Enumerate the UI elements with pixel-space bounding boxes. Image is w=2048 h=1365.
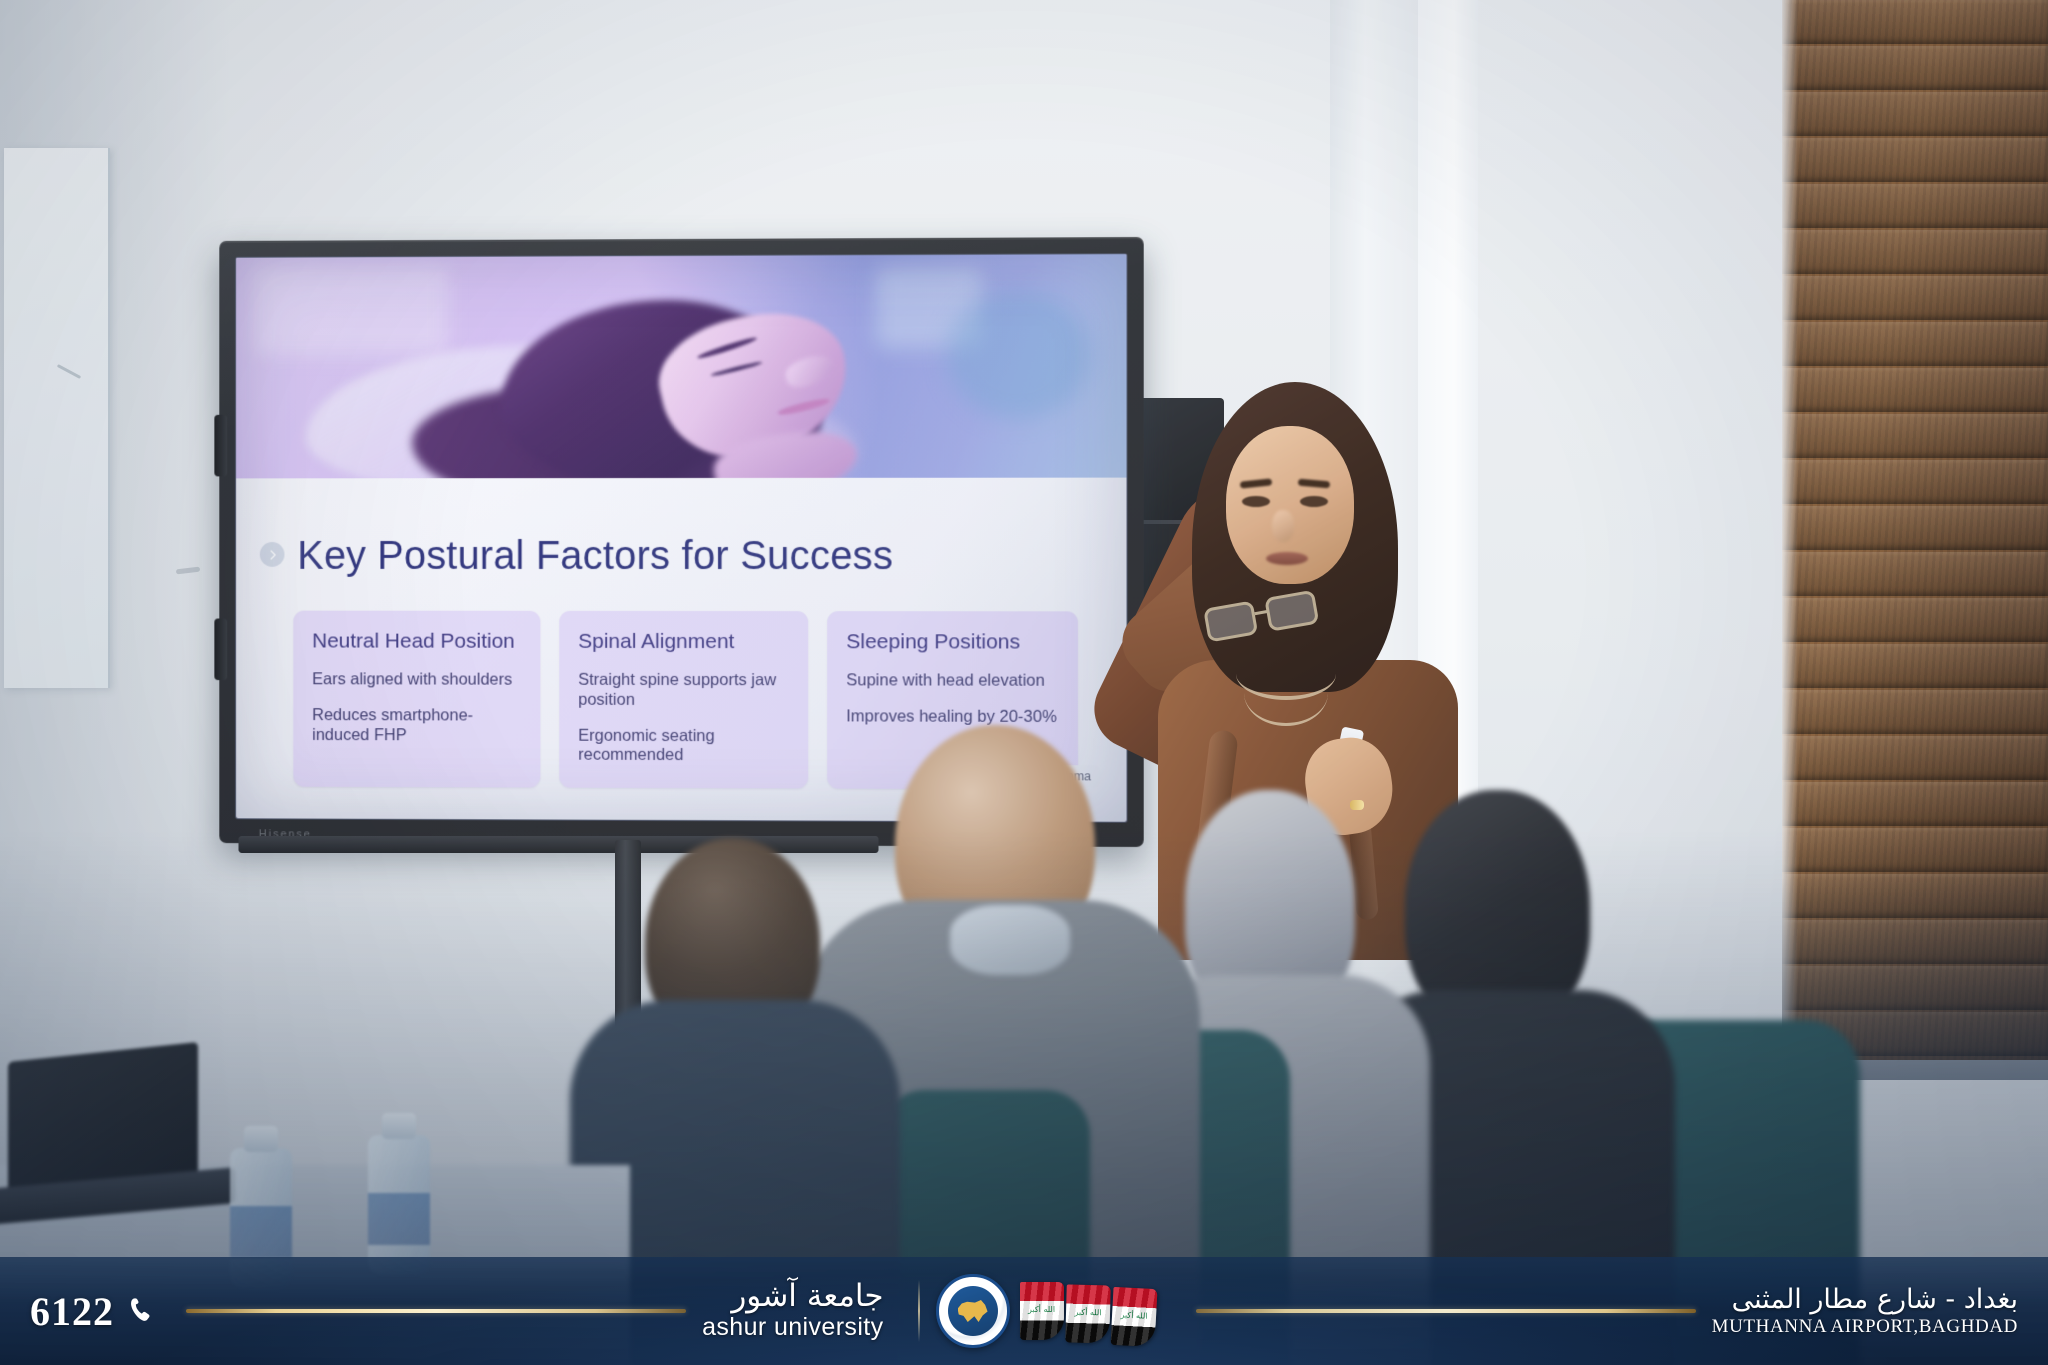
- bottom-branding-banner: 6122 جامعة آشور ashur university الله أك…: [0, 1257, 2048, 1365]
- presenter-eye: [1300, 496, 1328, 507]
- contact-phone: 6122: [30, 1288, 158, 1335]
- presenter-mouth: [1266, 552, 1308, 565]
- iraq-flags-icon: الله أكبر الله أكبر الله أكبر: [1020, 1282, 1156, 1340]
- university-seal-icon: [936, 1274, 1010, 1348]
- university-name-english: ashur university: [702, 1315, 883, 1341]
- card-bullet: Ergonomic seating recommended: [578, 726, 789, 766]
- slide-hero-image: [236, 254, 1126, 478]
- campus-address-arabic: بغداد - شارع مطار المثنى: [1712, 1285, 2018, 1314]
- card-title: Spinal Alignment: [578, 630, 789, 654]
- card-bullet: Straight spine supports jaw position: [578, 671, 789, 711]
- banner-divider-right: [1196, 1309, 1696, 1313]
- chevron-right-icon[interactable]: [260, 542, 285, 567]
- university-name-arabic: جامعة آشور: [702, 1281, 883, 1313]
- phone-icon: [126, 1295, 158, 1327]
- slide-card: Spinal Alignment Straight spine supports…: [559, 611, 808, 789]
- card-bullet: Reduces smartphone-induced FHP: [312, 706, 521, 746]
- whiteboard-marker-scuff: [57, 364, 81, 379]
- display-side-button-2[interactable]: [214, 618, 227, 680]
- presenter-necklace: [1244, 660, 1328, 726]
- whiteboard-logo-icon: [46, 300, 86, 346]
- presenter-nose: [1272, 510, 1294, 542]
- card-bullet: Ears aligned with shoulders: [312, 670, 521, 690]
- banner-divider-left: [186, 1309, 686, 1313]
- campus-address-english: MUTHANNA AIRPORT,BAGHDAD: [1712, 1317, 2018, 1338]
- whiteboard-panel: [4, 148, 110, 688]
- presentation-photo-scene: Key Postural Factors for Success Neutral…: [0, 0, 2048, 1365]
- slide-card: Neutral Head Position Ears aligned with …: [293, 611, 540, 788]
- card-title: Neutral Head Position: [312, 630, 521, 654]
- display-side-button-1[interactable]: [214, 415, 227, 477]
- campus-address: بغداد - شارع مطار المثنى MUTHANNA AIRPOR…: [1712, 1285, 2018, 1338]
- banner-vertical-separator: [918, 1280, 920, 1342]
- presenter-ring: [1350, 800, 1364, 810]
- university-name: جامعة آشور ashur university: [702, 1281, 901, 1340]
- phone-number: 6122: [30, 1288, 114, 1335]
- presenter-eye: [1242, 496, 1270, 507]
- slide-title: Key Postural Factors for Success: [297, 534, 893, 579]
